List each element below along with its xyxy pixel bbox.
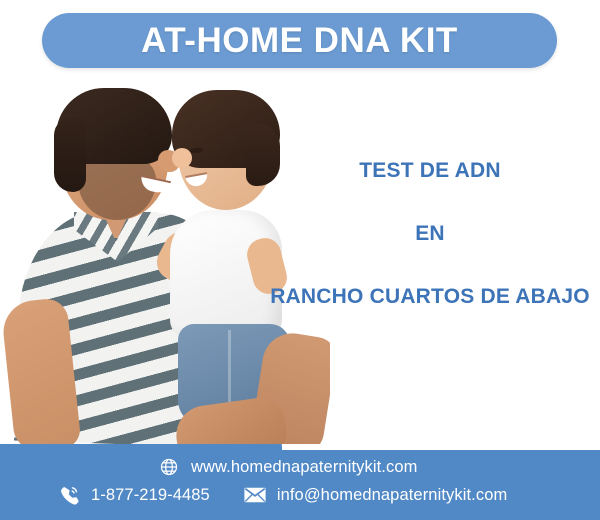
headline-block: TEST DE ADN EN RANCHO CUARTOS DE ABAJO	[260, 160, 600, 307]
headline-line-3: RANCHO CUARTOS DE ABAJO	[260, 286, 600, 307]
dna-kit-banner: AT-HOME DNA KIT	[0, 0, 600, 520]
footer-bar: www.homednapaternitykit.com 1-877-219-44…	[0, 450, 600, 520]
website-text: www.homednapaternitykit.com	[191, 458, 417, 477]
man-sideburn	[54, 118, 86, 192]
footer-contact-row: 1-877-219-4485 info@homednapaternitykit.…	[58, 484, 507, 506]
footer-website-row: www.homednapaternitykit.com	[158, 456, 417, 478]
headline-line-1: TEST DE ADN	[260, 160, 600, 181]
email-text: info@homednapaternitykit.com	[277, 486, 508, 505]
website-contact[interactable]: www.homednapaternitykit.com	[158, 456, 417, 478]
globe-icon	[158, 456, 180, 478]
email-contact[interactable]: info@homednapaternitykit.com	[244, 484, 508, 506]
headline-line-2: EN	[260, 223, 600, 244]
title-banner-pill: AT-HOME DNA KIT	[42, 13, 557, 68]
phone-contact[interactable]: 1-877-219-4485	[58, 484, 210, 506]
envelope-icon	[244, 484, 266, 506]
child-nose	[172, 148, 192, 168]
phone-text: 1-877-219-4485	[91, 486, 210, 505]
banner-title: AT-HOME DNA KIT	[141, 23, 458, 58]
phone-icon	[58, 484, 80, 506]
